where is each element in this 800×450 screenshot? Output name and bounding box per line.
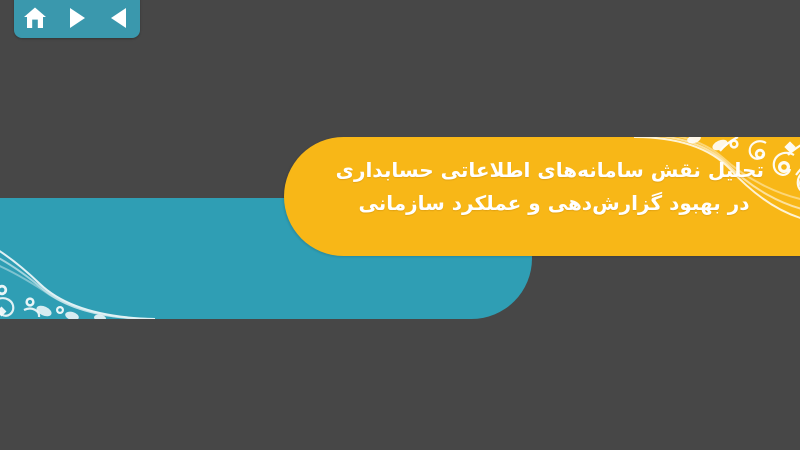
- title-banner: تحلیل نقش سامانه‌های اطلاعاتی حسابداری د…: [284, 137, 800, 256]
- home-icon: [23, 6, 47, 30]
- arabesque-ornament-teal: [0, 198, 155, 319]
- triangle-left-icon: [109, 7, 129, 29]
- next-slide-button[interactable]: [63, 5, 91, 31]
- slide-title-line-1: تحلیل نقش سامانه‌های اطلاعاتی حسابداری: [344, 154, 764, 187]
- triangle-right-icon: [67, 7, 87, 29]
- home-button[interactable]: [21, 5, 49, 31]
- slide-canvas: تحلیل نقش سامانه‌های اطلاعاتی حسابداری د…: [0, 0, 800, 450]
- previous-slide-button[interactable]: [105, 5, 133, 31]
- navigation-bar: [14, 0, 140, 38]
- slide-title-line-2: در بهبود گزارش‌دهی و عملکرد سازمانی: [344, 187, 764, 220]
- slide-title: تحلیل نقش سامانه‌های اطلاعاتی حسابداری د…: [344, 154, 764, 220]
